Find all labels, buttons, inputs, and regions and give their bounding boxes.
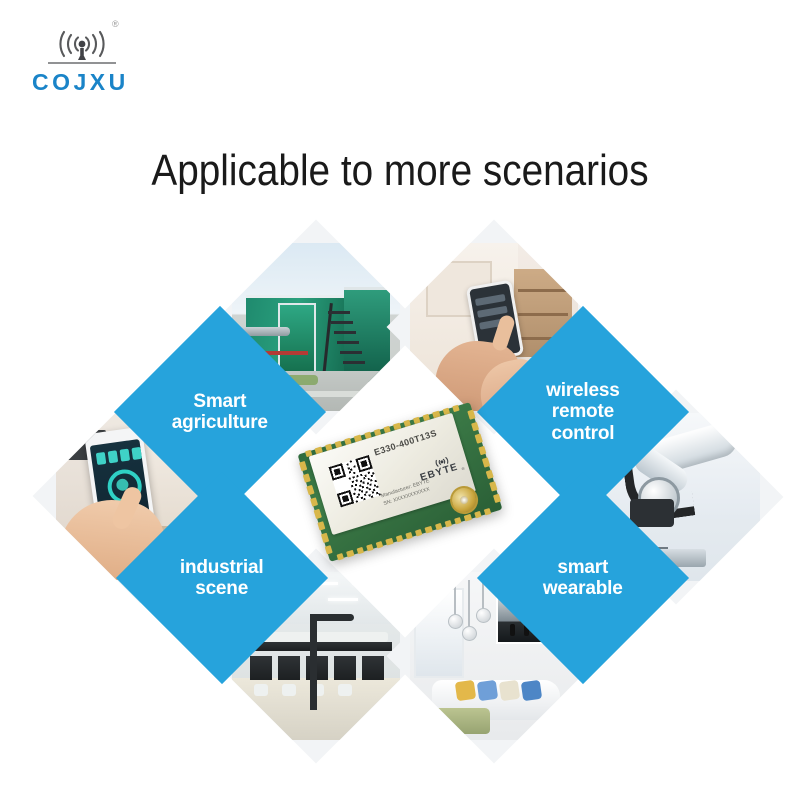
product-manufacturer-text: Manufacturer: EBYTE SN: XXXXXXXXXXX bbox=[380, 478, 433, 508]
ebyte-registered-mark: ® bbox=[461, 465, 466, 471]
ebyte-brand-mark: EBYTE bbox=[419, 462, 460, 484]
product-module-image: E330-400T13S Manufacturer: EBYTE SN: XXX… bbox=[298, 402, 503, 562]
poster-canvas: ® COJXU Applicable to more scenarios bbox=[0, 0, 800, 800]
scenario-label-smart-wearable: smart wearable bbox=[543, 557, 623, 600]
qr-code bbox=[329, 455, 381, 507]
scenario-label-wireless-remote-control: wireless remote control bbox=[546, 380, 619, 444]
rf-shield-label: E330-400T13S Manufacturer: EBYTE SN: XXX… bbox=[309, 413, 476, 535]
scenario-diamond-grid: Smart agriculture wireless remote contro… bbox=[0, 0, 800, 800]
pcb-board: E330-400T13S Manufacturer: EBYTE SN: XXX… bbox=[298, 402, 503, 562]
scenario-label-smart-agriculture: Smart agriculture bbox=[172, 391, 268, 434]
scenario-label-industrial-scene: industrial scene bbox=[180, 557, 264, 600]
